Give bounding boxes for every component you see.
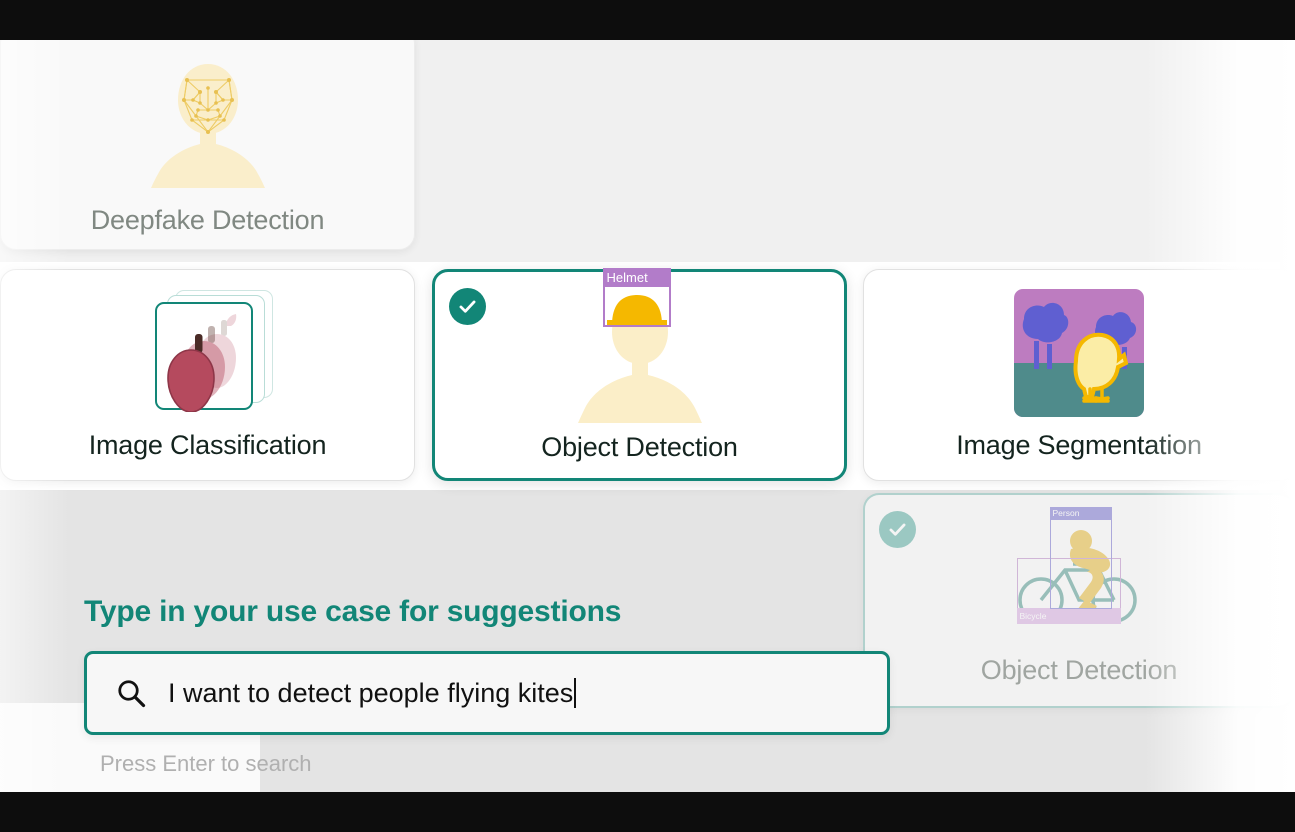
search-heading: Type in your use case for suggestions [84,595,890,629]
stacked-cards-icon [143,290,273,416]
search-section: Type in your use case for suggestions I … [84,595,890,777]
card-art-stacked-apples [1,278,414,428]
selected-check-badge [879,511,916,548]
text-caret [574,678,576,708]
search-input[interactable]: I want to detect people flying kites [168,678,576,709]
check-icon [457,296,478,317]
search-hint: Press Enter to search [100,751,890,777]
chrome-bottom-bar [0,792,1295,832]
bbox-helmet-label: Helmet [603,268,671,287]
screen-root: Deepfake Detection [0,0,1295,832]
selected-check-badge [449,288,486,325]
face-mesh-icon [148,58,268,188]
card-label: Deepfake Detection [1,205,414,236]
check-icon [887,519,908,540]
card-art-bicycle-detection: Person Bicycle [865,503,1293,653]
card-label: Object Detection [435,432,844,463]
card-label: Image Classification [1,430,414,461]
page-canvas: Deepfake Detection [0,40,1295,792]
apple-icon [157,304,255,412]
helmet-detection-icon: Helmet [575,285,705,425]
card-object-detection-suggestion[interactable]: Person Bicycle Object Detection [863,493,1295,708]
search-input-container[interactable]: I want to detect people flying kites [84,651,890,735]
card-label: Image Segmentation [864,430,1294,461]
bbox-bicycle-label: Bicycle [1017,608,1121,624]
bbox-person-label: Person [1050,507,1112,520]
bbox-helmet: Helmet [603,285,671,327]
search-icon [116,678,146,708]
card-image-segmentation[interactable]: Image Segmentation [863,269,1295,481]
card-object-detection[interactable]: Helmet Object Detection [432,269,847,481]
card-art-segmentation [864,278,1294,428]
search-input-value: I want to detect people flying kites [168,678,573,708]
segmentation-scene-icon [1014,289,1144,417]
card-image-classification[interactable]: Image Classification [0,269,415,481]
chrome-top-bar [0,0,1295,40]
card-art-helmet-detection: Helmet [435,280,844,430]
helmet-icon [605,287,669,325]
bbox-person: Person [1050,519,1112,609]
stack-sheet-front [155,302,253,410]
card-deepfake-detection[interactable]: Deepfake Detection [0,40,415,250]
card-art-face-mesh [1,43,414,203]
bicycle-person-detection-icon: Person Bicycle [1013,516,1145,640]
card-label: Object Detection [865,655,1293,686]
